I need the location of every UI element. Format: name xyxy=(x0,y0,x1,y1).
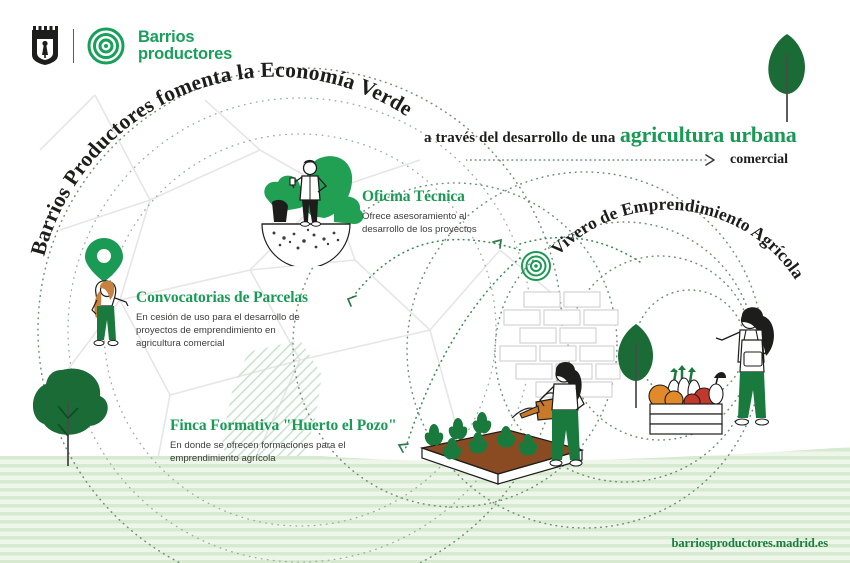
dotted-arrow-right-icon xyxy=(466,152,726,168)
footer-url[interactable]: barriosproductores.madrid.es xyxy=(672,536,828,551)
block-body: En cesión de uso para el desarrollo de p… xyxy=(136,312,304,350)
block-body: Ofrece asesoramiento al desarrollo de lo… xyxy=(362,211,492,237)
headline-right-sub: comercial xyxy=(730,152,788,168)
headline-right-plain: a través del desarrollo de una xyxy=(424,130,615,146)
infographic-canvas: Barrios productores Barrios Productores … xyxy=(0,0,850,563)
tree-teardrop-icon xyxy=(612,320,660,412)
block-title: Convocatorias de Parcelas xyxy=(136,289,308,307)
tree-blob-icon xyxy=(28,362,112,472)
woman-watering-garden-bed-illustration xyxy=(412,352,602,492)
technician-on-soil-dome-illustration xyxy=(238,148,374,266)
block-body: En donde se ofrecen formaciones para el … xyxy=(170,440,385,466)
block-finca-formativa: Finca Formativa "Huerto el Pozo" En dond… xyxy=(170,417,397,466)
woman-with-vegetable-crate-illustration xyxy=(630,300,830,460)
block-title: Oficina Técnica xyxy=(362,188,492,206)
block-title: Finca Formativa "Huerto el Pozo" xyxy=(170,417,397,435)
block-oficina-tecnica: Oficina Técnica Ofrece asesoramiento al … xyxy=(362,188,492,237)
block-convocatorias-de-parcelas: Convocatorias de Parcelas En cesión de u… xyxy=(136,289,308,350)
headline-right-group: a través del desarrollo de una agricultu… xyxy=(424,122,797,148)
tree-teardrop-icon xyxy=(762,30,812,126)
concentric-circles-mark-icon xyxy=(522,252,550,280)
woman-with-map-pin-illustration xyxy=(82,236,144,358)
